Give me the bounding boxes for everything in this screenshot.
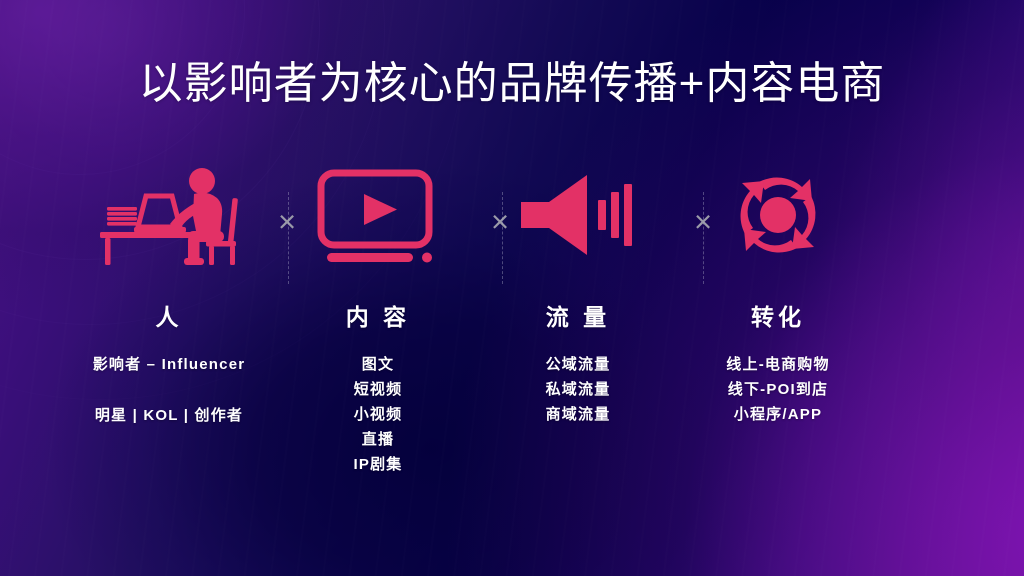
pillar-line: 公域流量 <box>478 352 678 377</box>
pillars-row: 人 影响者 – Influencer 明星 | KOL | 创作者 内 容 <box>60 160 964 490</box>
pillar-line: 短视频 <box>278 377 478 402</box>
person-at-desk-with-laptop-icon <box>60 160 278 270</box>
pillar-title: 转化 <box>751 298 805 332</box>
pillar-body: 影响者 – Influencer 明星 | KOL | 创作者 <box>60 352 278 428</box>
pillar-line: 小视频 <box>278 402 478 427</box>
column-divider-1 <box>288 192 289 284</box>
column-divider-2 <box>502 192 503 284</box>
pillar-column-traffic: 流 量 公域流量 私域流量 商域流量 <box>478 160 678 427</box>
pillar-line: 商域流量 <box>478 402 678 427</box>
column-divider-3 <box>703 192 704 284</box>
multiply-separator-2: × <box>491 206 509 237</box>
pillar-column-conversion: 转化 线上-电商购物 线下-POI到店 小程序/APP <box>678 160 878 427</box>
video-play-screen-icon <box>278 160 478 270</box>
pillar-line: 小程序/APP <box>678 402 878 427</box>
pillar-line: 影响者 – Influencer <box>60 352 278 377</box>
pillar-body: 线上-电商购物 线下-POI到店 小程序/APP <box>678 352 878 427</box>
pillar-line: 线下-POI到店 <box>678 377 878 402</box>
pillar-body: 公域流量 私域流量 商域流量 <box>478 352 678 427</box>
pillar-line: 明星 | KOL | 创作者 <box>60 403 278 428</box>
pillar-title: 流 量 <box>546 298 610 332</box>
pillar-line: 直播 <box>278 427 478 452</box>
pillar-title: 人 <box>156 298 183 332</box>
pillar-line: 图文 <box>278 352 478 377</box>
pillar-title: 内 容 <box>346 298 410 332</box>
pillar-column-content: 内 容 图文 短视频 小视频 直播 IP剧集 <box>278 160 478 477</box>
pillar-line: 线上-电商购物 <box>678 352 878 377</box>
pillar-column-people: 人 影响者 – Influencer 明星 | KOL | 创作者 <box>60 160 278 428</box>
pillar-line: 私域流量 <box>478 377 678 402</box>
slide-title: 以影响者为核心的品牌传播+内容电商 <box>0 60 1024 108</box>
pillar-body: 图文 短视频 小视频 直播 IP剧集 <box>278 352 478 477</box>
pillar-line: IP剧集 <box>278 452 478 477</box>
slide-canvas: 以影响者为核心的品牌传播+内容电商 <box>0 0 1024 576</box>
